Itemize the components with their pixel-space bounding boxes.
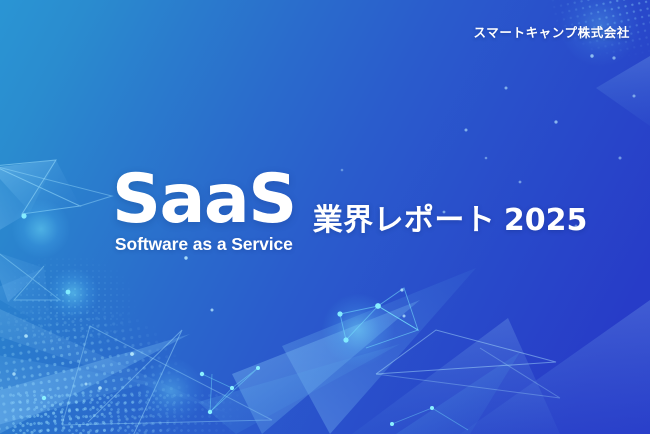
dot-matrix-bottomleft-icon bbox=[0, 285, 215, 434]
glow-accent-midleft bbox=[48, 268, 98, 318]
corporate-name: スマートキャンプ株式会社 bbox=[474, 22, 630, 41]
saas-wordmark: SaaS bbox=[112, 168, 296, 232]
title-block: SaaS Software as a Service 業界レポート 2025 bbox=[112, 168, 587, 255]
saas-tagline: Software as a Service bbox=[115, 234, 293, 255]
dot-matrix-topright-icon bbox=[499, 0, 650, 118]
report-title: 業界レポート 2025 bbox=[313, 195, 588, 239]
glow-accent-upperleft bbox=[12, 200, 70, 258]
glow-accent-bottomleft bbox=[138, 358, 204, 424]
dot-matrix-midleft-icon bbox=[6, 250, 156, 360]
report-year: 2025 bbox=[504, 203, 588, 238]
report-title-text: 業界レポート bbox=[313, 204, 495, 237]
saas-logo-lockup: SaaS Software as a Service bbox=[112, 168, 296, 255]
report-cover: スマートキャンプ株式会社 SaaS Software as a Service … bbox=[0, 0, 650, 434]
dot-matrix-bottomstrip-icon bbox=[10, 392, 260, 434]
glow-accent-center bbox=[322, 294, 394, 366]
